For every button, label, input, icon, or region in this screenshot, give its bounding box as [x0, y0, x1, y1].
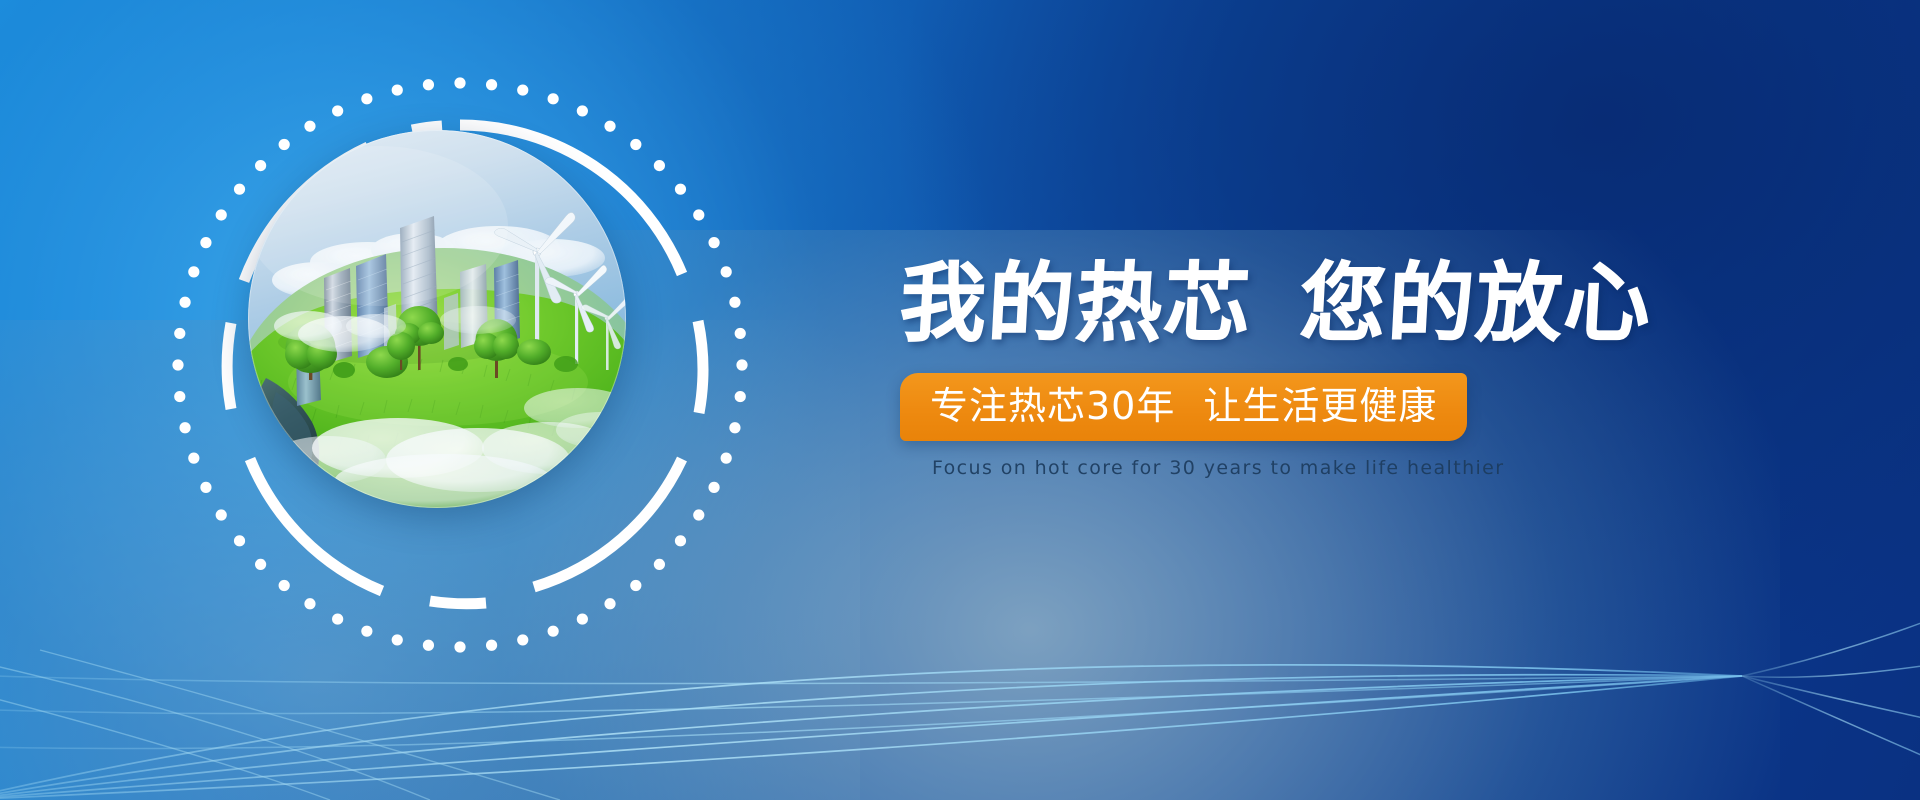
- badge-part-2: 让生活更健康: [1203, 384, 1437, 428]
- tagline-badge: 专注热芯30年让生活更健康: [900, 373, 1467, 441]
- page-title: 我的热芯您的放心: [898, 258, 1663, 351]
- copy-block: 我的热芯您的放心 专注热芯30年让生活更健康 Focus on hot core…: [900, 258, 1660, 479]
- english-subtitle: Focus on hot core for 30 years to make l…: [932, 457, 1660, 479]
- globe-scene: [248, 130, 626, 508]
- headline-part-1: 我的热芯: [897, 254, 1254, 354]
- badge-part-1: 专注热芯30年: [930, 384, 1175, 428]
- headline-part-2: 您的放心: [1297, 254, 1654, 354]
- tagline-badge-text: 专注热芯30年让生活更健康: [930, 384, 1437, 428]
- eco-globe-graphic: [130, 35, 790, 695]
- promo-banner: 我的热芯您的放心 专注热芯30年让生活更健康 Focus on hot core…: [0, 0, 1920, 800]
- globe-image: [248, 130, 626, 508]
